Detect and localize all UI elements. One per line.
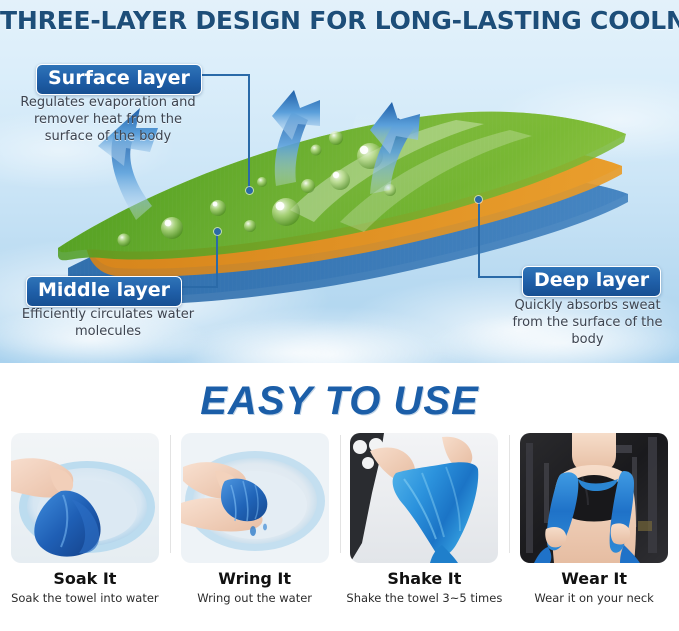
connector-middle-vertical [216, 232, 218, 288]
callout-badge-middle-layer: Middle layer [26, 276, 182, 307]
step-soak-it: Soak It Soak the towel into water [0, 433, 170, 629]
easy-to-use-section: EASY TO USE [0, 363, 679, 631]
step-photo-shake-it [350, 433, 498, 563]
connector-dot-surface [246, 187, 253, 194]
step-wear-it: Wear It Wear it on your neck [509, 433, 679, 629]
step-photo-wear-it [520, 433, 668, 563]
step-title-wear-it: Wear It [561, 569, 627, 588]
callout-badge-deep-layer: Deep layer [522, 266, 661, 297]
step-subtitle-shake-it: Shake the towel 3~5 times [346, 591, 502, 606]
soak-it-photo-svg [11, 433, 159, 563]
step-title-soak-it: Soak It [53, 569, 116, 588]
callout-badge-surface-layer: Surface layer [36, 64, 202, 95]
easy-to-use-heading: EASY TO USE [0, 379, 679, 424]
step-title-shake-it: Shake It [387, 569, 461, 588]
step-photo-soak-it [11, 433, 159, 563]
step-wring-it: Wring It Wring out the water [170, 433, 340, 629]
wring-it-photo-svg [181, 433, 329, 563]
connector-deep-horizontal [478, 276, 526, 278]
callout-description-surface-layer: Regulates evaporation and remover heat f… [8, 94, 208, 145]
step-photo-wring-it [181, 433, 329, 563]
step-subtitle-soak-it: Soak the towel into water [11, 591, 159, 606]
wear-it-photo-svg [520, 433, 668, 563]
callout-description-middle-layer: Efficiently circulates water molecules [8, 306, 208, 340]
step-subtitle-wear-it: Wear it on your neck [534, 591, 653, 606]
callout-description-deep-layer: Quickly absorbs sweat from the surface o… [500, 297, 675, 348]
connector-dot-middle [214, 228, 221, 235]
steps-row: Soak It Soak the towel into water [0, 433, 679, 629]
shake-it-photo-svg [350, 433, 498, 563]
page-title: THREE-LAYER DESIGN FOR LONG-LASTING COOL… [0, 6, 679, 35]
connector-deep-vertical [478, 200, 480, 278]
step-title-wring-it: Wring It [218, 569, 291, 588]
infographic-page: THREE-LAYER DESIGN FOR LONG-LASTING COOL… [0, 0, 679, 631]
connector-dot-deep [475, 196, 482, 203]
three-layer-section: THREE-LAYER DESIGN FOR LONG-LASTING COOL… [0, 0, 679, 363]
connector-surface-vertical [248, 74, 250, 190]
step-shake-it: Shake It Shake the towel 3~5 times [340, 433, 510, 629]
step-subtitle-wring-it: Wring out the water [197, 591, 312, 606]
